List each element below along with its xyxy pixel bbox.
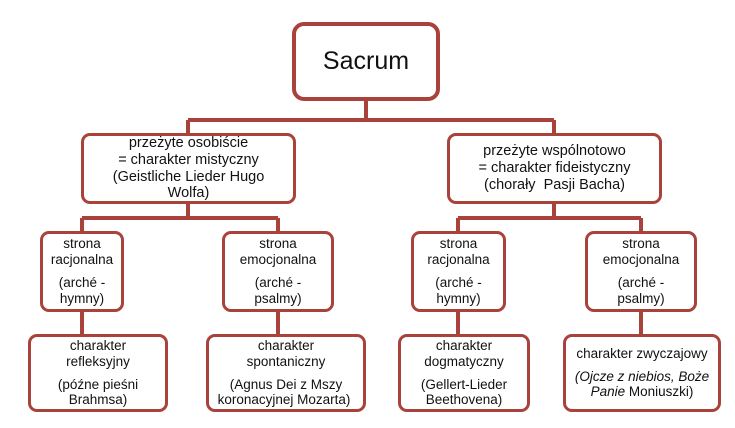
node-line: = charakter mistyczny: [118, 152, 259, 169]
node-line: (chorały Pasji Bacha): [484, 177, 625, 194]
node-line: racjonalna: [427, 252, 489, 268]
node-line: koronacyjnej Mozarta): [196, 392, 372, 408]
node-przezyte-osobiscie[interactable]: przeżyte osobiście = charakter mistyczny…: [81, 133, 296, 204]
node-line: emocjonalna: [603, 252, 680, 268]
node-line: emocjonalna: [240, 252, 317, 268]
node-line: Beethovena): [426, 392, 503, 408]
node-line: (arché -: [59, 275, 106, 291]
node-line: strona: [63, 236, 101, 252]
node-line: psalmy): [254, 291, 301, 307]
diagram-canvas: Sacrum przeżyte osobiście = charakter mi…: [0, 0, 735, 428]
node-charakter-zwyczajowy[interactable]: charakter zwyczajowy (Ojcze z niebios, B…: [563, 334, 721, 412]
node-strona-racjonalna-2[interactable]: strona racjonalna (arché - hymny): [411, 231, 506, 312]
node-line: przeżyte osobiście: [129, 135, 248, 152]
node-charakter-dogmatyczny[interactable]: charakter dogmatyczny (Gellert-Lieder Be…: [398, 334, 530, 412]
node-strona-emocjonalna-1[interactable]: strona emocjonalna (arché - psalmy): [222, 231, 334, 312]
node-line: spontaniczny: [247, 354, 326, 370]
node-sacrum-label: Sacrum: [323, 47, 409, 76]
node-line: charakter: [70, 338, 126, 354]
node-line: (późne pieśni: [58, 377, 138, 393]
work-title-part: Panie: [591, 384, 626, 399]
node-charakter-spontaniczny[interactable]: charakter spontaniczny (Agnus Dei z Mszy…: [206, 334, 366, 412]
node-line-mixed: Panie Moniuszki): [591, 384, 694, 400]
node-przezyte-wspolnotowo[interactable]: przeżyte wspólnotowo = charakter fideist…: [447, 133, 662, 204]
node-line-italic: (Ojcze z niebios, Boże: [575, 369, 709, 385]
node-line: Brahmsa): [69, 392, 128, 408]
node-strona-racjonalna-1[interactable]: strona racjonalna (arché - hymny): [40, 231, 124, 312]
node-line: przeżyte wspólnotowo: [483, 143, 626, 160]
node-line: (arché -: [255, 275, 302, 291]
node-line: (Gellert-Lieder: [421, 377, 507, 393]
node-line: = charakter fideistyczny: [479, 160, 631, 177]
node-sacrum[interactable]: Sacrum: [292, 22, 440, 101]
node-line: (arché -: [435, 275, 482, 291]
node-line: (Agnus Dei z Mszy: [230, 377, 343, 393]
node-line: psalmy): [617, 291, 664, 307]
composer-part: Moniuszki): [625, 384, 693, 399]
node-strona-emocjonalna-2[interactable]: strona emocjonalna (arché - psalmy): [585, 231, 697, 312]
node-line: refleksyjny: [66, 354, 130, 370]
node-line: hymny): [60, 291, 104, 307]
node-line: strona: [440, 236, 478, 252]
node-line: strona: [259, 236, 297, 252]
node-charakter-refleksyjny[interactable]: charakter refleksyjny (późne pieśni Brah…: [28, 334, 168, 412]
node-line: charakter zwyczajowy: [576, 346, 707, 362]
node-line: dogmatyczny: [424, 354, 504, 370]
node-line: racjonalna: [51, 252, 113, 268]
node-line: (Geistliche Lieder Hugo: [113, 169, 265, 186]
node-line: charakter: [258, 338, 314, 354]
node-line: (arché -: [618, 275, 665, 291]
node-line: Wolfa): [168, 185, 210, 202]
node-line: strona: [622, 236, 660, 252]
node-line: hymny): [436, 291, 480, 307]
node-line: charakter: [436, 338, 492, 354]
